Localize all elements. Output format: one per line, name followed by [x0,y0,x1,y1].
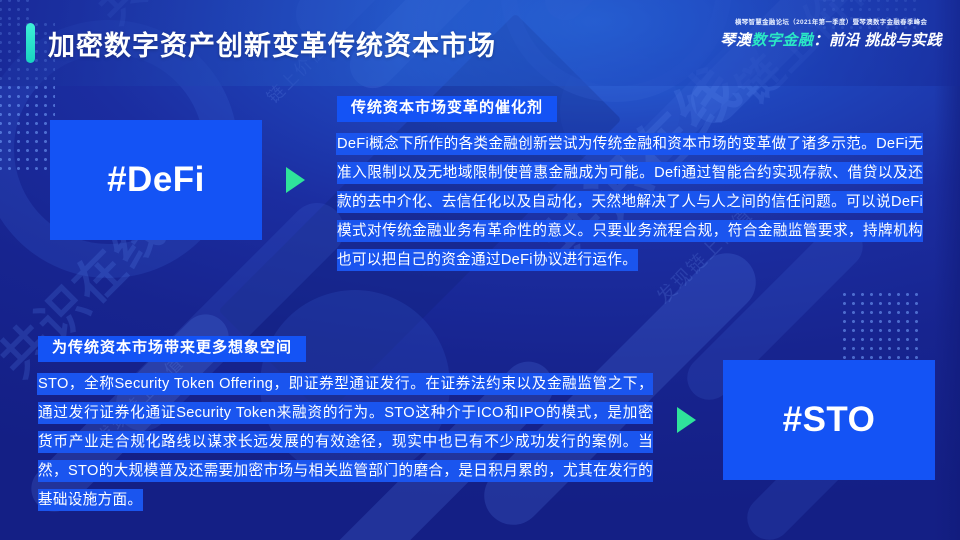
title-accent-bar [26,23,35,63]
sto-paragraph-text: STO，全称Security Token Offering，即证券型通证发行。在… [38,374,653,510]
defi-tag-label: #DeFi [107,160,205,200]
sto-paragraph: STO，全称Security Token Offering，即证券型通证发行。在… [38,370,653,515]
defi-section-heading: 传统资本市场变革的催化剂 [337,96,557,122]
sto-tag-label: #STO [783,400,876,440]
defi-tag-box: #DeFi [50,120,262,240]
event-logo: 横琴智慧金融论坛（2021年第一季度）暨琴澳数字金融春季峰会 琴澳数字金融：前沿… [720,17,942,50]
event-logo-title-part2: 数字金融 [751,32,813,49]
event-logo-subtitle: 横琴智慧金融论坛（2021年第一季度）暨琴澳数字金融春季峰会 [720,17,942,26]
sto-arrow-icon [677,407,696,433]
slide-canvas: 共识在线 链上价值 共识在线 发现链上价值 共识在线 发现链上价值 链上价值 加… [0,0,960,540]
defi-arrow-icon [286,167,305,193]
defi-paragraph-text: DeFi概念下所作的各类金融创新尝试为传统金融和资本市场的变革做了诸多示范。De… [337,134,923,270]
event-logo-title: 琴澳数字金融：前沿 挑战与实践 [720,29,942,50]
defi-paragraph: DeFi概念下所作的各类金融创新尝试为传统金融和资本市场的变革做了诸多示范。De… [337,130,923,275]
event-logo-title-part1: 琴澳 [720,32,751,49]
page-title: 加密数字资产创新变革传统资本市场 [48,24,496,63]
event-logo-title-part3: ：前沿 挑战与实践 [813,32,942,49]
sto-section-heading: 为传统资本市场带来更多想象空间 [38,336,306,362]
sto-content-block: 为传统资本市场带来更多想象空间 STO，全称Security Token Off… [38,336,653,515]
defi-content-block: 传统资本市场变革的催化剂 DeFi概念下所作的各类金融创新尝试为传统金融和资本市… [337,96,923,275]
sto-tag-box: #STO [723,360,935,480]
